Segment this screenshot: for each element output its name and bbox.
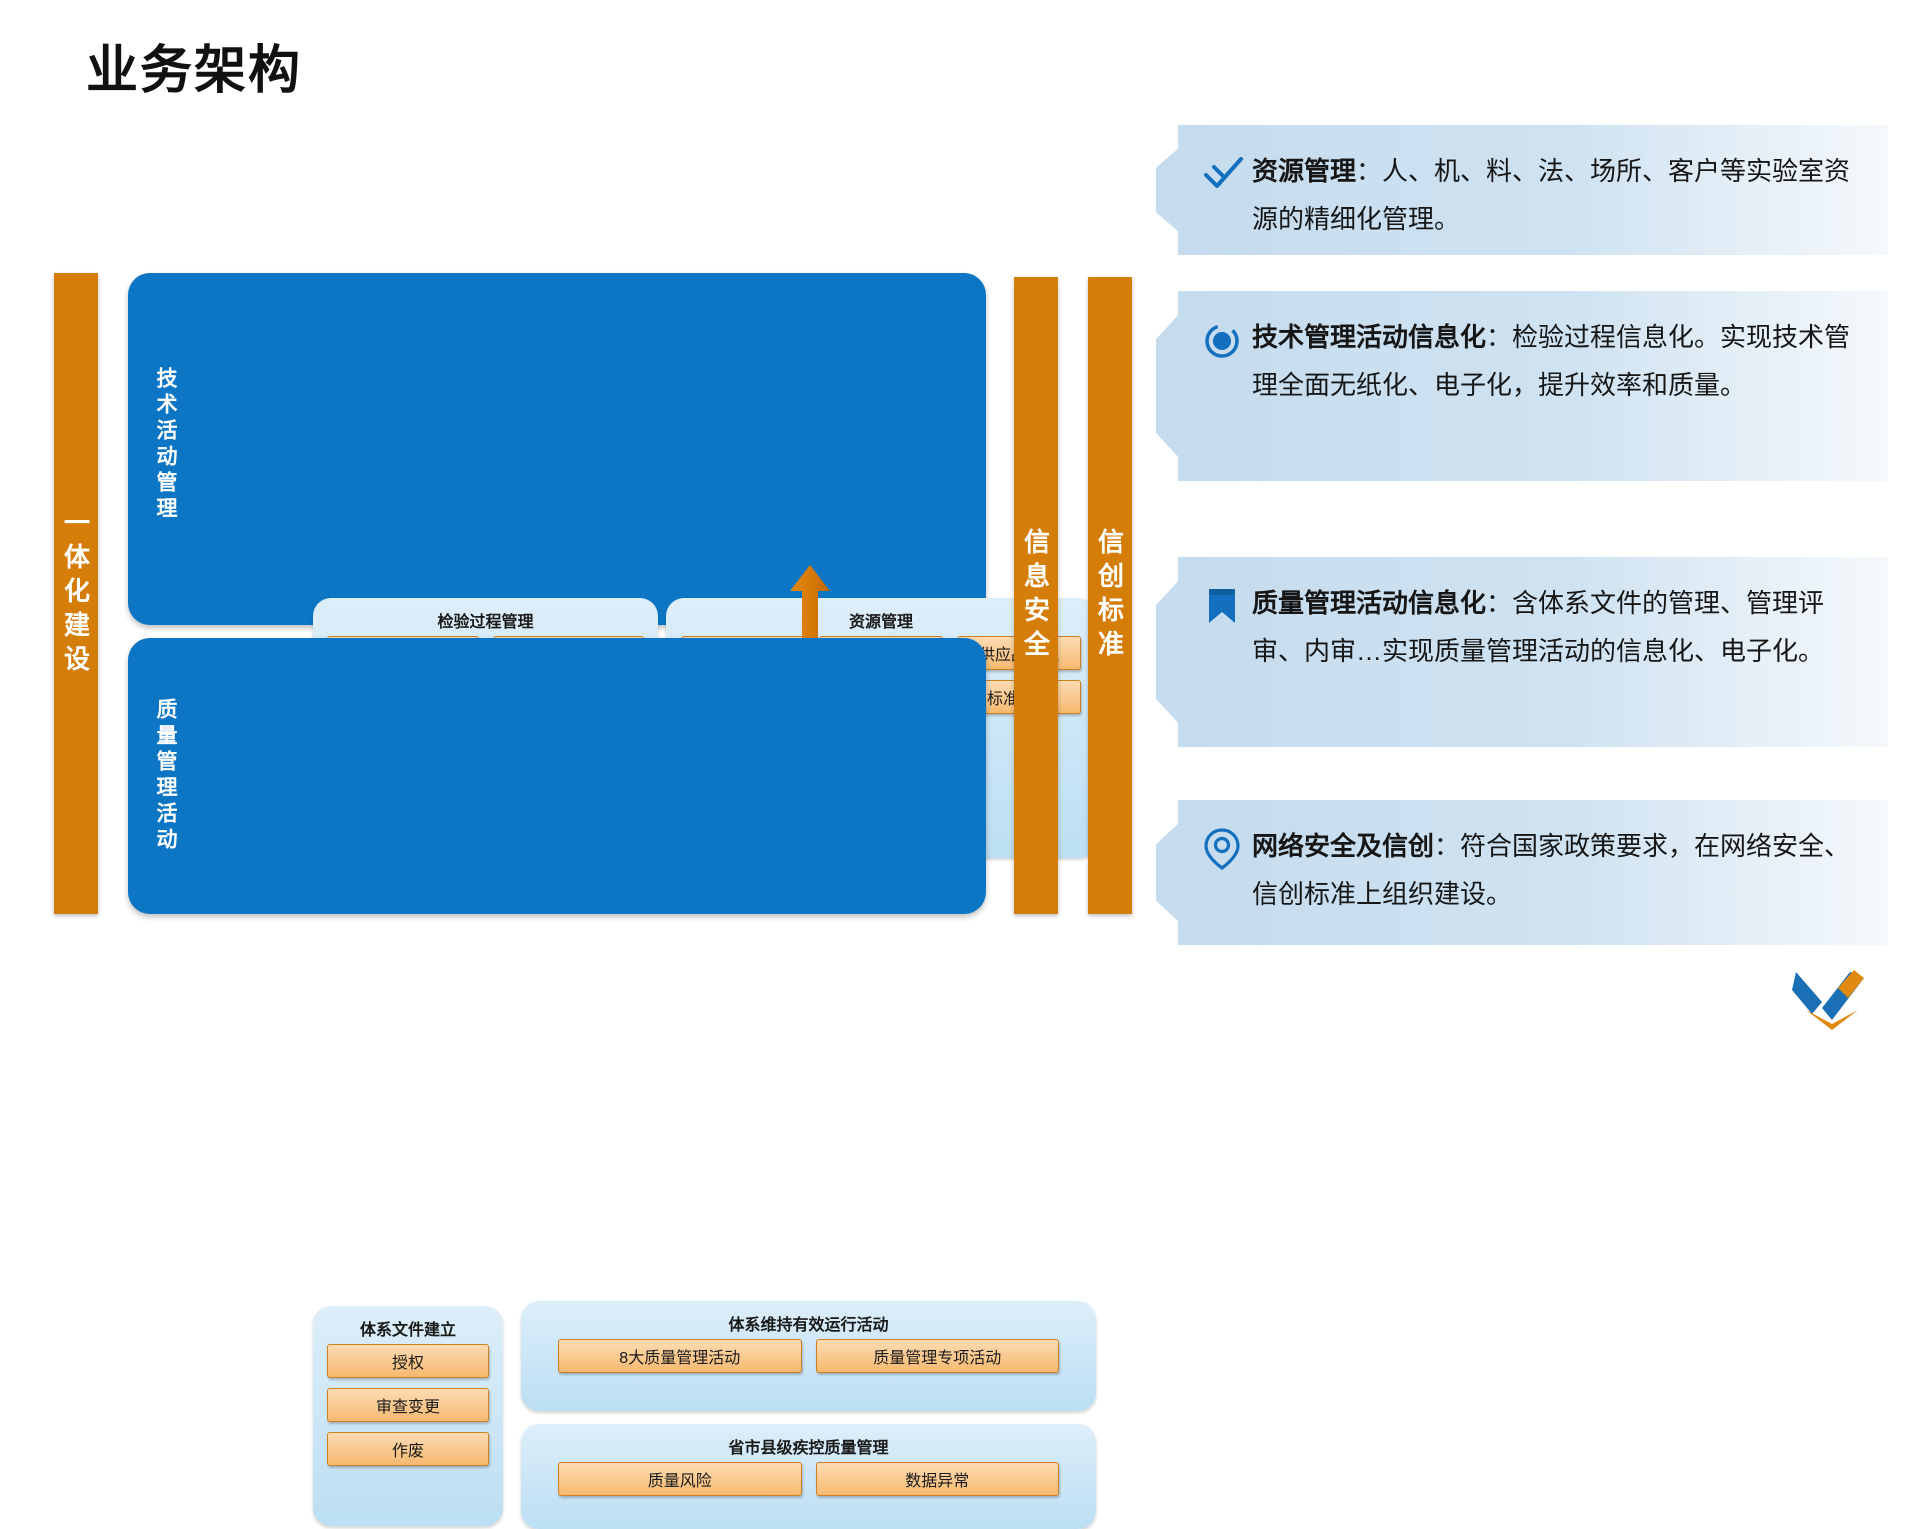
panel-quality-activity-label: 质量管理活动 — [136, 652, 180, 900]
group-cdc-quality-title: 省市县级疾控质量管理 — [521, 1434, 1096, 1458]
info-card-text: 技术管理活动信息化：检验过程信息化。实现技术管理全面无纸化、电子化，提升效率和质… — [1252, 313, 1862, 409]
info-card-bold: 质量管理活动信息化 — [1252, 588, 1486, 618]
info-card-text: 质量管理活动信息化：含体系文件的管理、管理评审、内审…实现质量管理活动的信息化、… — [1252, 579, 1862, 675]
page-title: 业务架构 — [86, 28, 302, 103]
chip-item[interactable]: 作废 — [327, 1432, 489, 1466]
panel-technical-activity-label: 技术活动管理 — [136, 287, 180, 603]
group-system-document-chips: 授权 审查变更 作废 — [327, 1344, 489, 1516]
group-system-maintenance: 体系维持有效运行活动 8大质量管理活动 质量管理专项活动 — [521, 1301, 1096, 1411]
company-logo-icon — [1792, 968, 1872, 1030]
info-card-technical-informatization: 技术管理活动信息化：检验过程信息化。实现技术管理全面无纸化、电子化，提升效率和质… — [1178, 291, 1888, 481]
group-system-document-title: 体系文件建立 — [313, 1316, 503, 1340]
panel-technical-activity: 技术活动管理 检验过程管理 外部采样 客户服务 检验记录 报告 样品管理 受理/… — [128, 273, 986, 625]
panel-quality-activity: 质量管理活动 体系文件建立 授权 审查变更 作废 体系维持有效运行活动 8大质量… — [128, 638, 986, 914]
info-card-text: 资源管理：人、机、料、法、场所、客户等实验室资源的精细化管理。 — [1252, 147, 1862, 243]
info-card-resource-management: 资源管理：人、机、料、法、场所、客户等实验室资源的精细化管理。 — [1178, 125, 1888, 255]
vertical-bar-xinchuang-standard: 信创标准 — [1088, 277, 1132, 914]
card-tab — [1156, 822, 1180, 923]
info-card-text: 网络安全及信创：符合国家政策要求，在网络安全、信创标准上组织建设。 — [1252, 822, 1862, 918]
chip-item[interactable]: 质量管理专项活动 — [816, 1339, 1060, 1373]
location-pin-icon — [1200, 822, 1252, 877]
check-icon — [1200, 147, 1252, 202]
card-tab — [1156, 147, 1180, 233]
info-card-quality-informatization: 质量管理活动信息化：含体系文件的管理、管理评审、内审…实现质量管理活动的信息化、… — [1178, 557, 1888, 747]
vertical-bar-info-security: 信息安全 — [1014, 277, 1058, 914]
chip-item[interactable]: 8大质量管理活动 — [558, 1339, 802, 1373]
info-card-network-security: 网络安全及信创：符合国家政策要求，在网络安全、信创标准上组织建设。 — [1178, 800, 1888, 945]
group-inspection-process-title: 检验过程管理 — [313, 608, 658, 632]
chip-item[interactable]: 数据异常 — [816, 1462, 1060, 1496]
group-cdc-quality: 省市县级疾控质量管理 质量风险 数据异常 — [521, 1424, 1096, 1529]
group-system-document: 体系文件建立 授权 审查变更 作废 — [313, 1306, 503, 1526]
info-card-bold: 资源管理 — [1252, 156, 1356, 186]
info-card-bold: 网络安全及信创 — [1252, 831, 1434, 861]
group-cdc-quality-chips: 质量风险 数据异常 — [535, 1462, 1082, 1519]
target-icon — [1200, 313, 1252, 368]
group-system-maintenance-title: 体系维持有效运行活动 — [521, 1311, 1096, 1335]
bookmark-icon — [1200, 579, 1252, 634]
chip-item[interactable]: 质量风险 — [558, 1462, 802, 1496]
card-tab — [1156, 313, 1180, 459]
chip-item[interactable]: 授权 — [327, 1344, 489, 1378]
vertical-bar-integrated-construction: 一体化建设 — [54, 273, 98, 914]
chip-item[interactable]: 审查变更 — [327, 1388, 489, 1422]
card-tab — [1156, 579, 1180, 725]
group-system-maintenance-chips: 8大质量管理活动 质量管理专项活动 — [535, 1339, 1082, 1401]
info-card-bold: 技术管理活动信息化 — [1252, 322, 1486, 352]
